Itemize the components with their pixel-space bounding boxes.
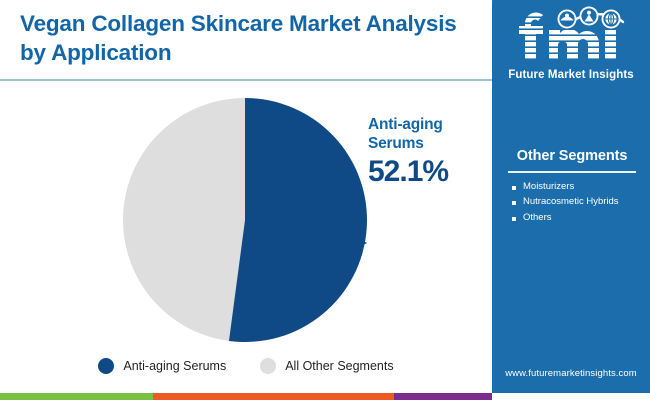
- pie-slice-anti-aging-serums[interactable]: [229, 98, 367, 342]
- callout-value: 52.1%: [368, 156, 483, 188]
- brand-sidebar: Future Market Insights Other Segments Mo…: [492, 0, 650, 393]
- logo-badge-globe-grid-icon: [602, 10, 621, 29]
- callout-label-line1: Anti-aging: [368, 116, 443, 133]
- bar-segment-green: [0, 393, 153, 400]
- logo-tagline: Future Market Insights: [492, 69, 650, 81]
- fmi-logo[interactable]: Future Market Insights: [492, 6, 650, 81]
- bullet-icon: [512, 186, 516, 190]
- other-segments-panel: Other Segments Moisturizers Nutracosmeti…: [506, 148, 638, 228]
- segment-label: Others: [523, 212, 552, 225]
- bottom-color-bar: [0, 393, 492, 400]
- website-url[interactable]: www.futuremarketinsights.com: [492, 368, 650, 379]
- pie-slice-all-other-segments[interactable]: [123, 98, 245, 341]
- segment-label: Moisturizers: [523, 181, 574, 194]
- logo-letter-f: [513, 12, 549, 64]
- arrow-right-icon: [340, 234, 368, 252]
- callout-label-line2: Serums: [368, 135, 424, 152]
- legend-label: Anti-aging Serums: [123, 359, 226, 373]
- bar-segment-orange: [153, 393, 394, 400]
- list-item: Nutracosmetic Hybrids: [512, 196, 638, 209]
- list-item: Others: [512, 212, 638, 225]
- pie-callout: Anti-aging Serums 52.1%: [368, 116, 483, 187]
- logo-letter-i: [603, 24, 619, 66]
- logo-badge-globe-icon: [558, 10, 577, 29]
- page-title: Vegan Collagen Skincare Market Analysis …: [20, 10, 470, 67]
- bullet-icon: [512, 217, 516, 221]
- logo-badge-chart-person-icon: [580, 7, 599, 26]
- other-segments-title: Other Segments: [506, 148, 638, 164]
- bullet-icon: [512, 201, 516, 205]
- callout-label: Anti-aging Serums: [368, 116, 483, 154]
- logo-letter-m: [545, 24, 603, 66]
- list-item: Moisturizers: [512, 181, 638, 194]
- bar-segment-purple: [394, 393, 492, 400]
- fmi-logo-mark: [505, 6, 637, 68]
- other-segments-divider: [508, 171, 636, 173]
- legend-item-anti-aging-serums[interactable]: Anti-aging Serums: [98, 358, 226, 374]
- legend-swatch-icon: [260, 358, 276, 374]
- infographic-page: Vegan Collagen Skincare Market Analysis …: [0, 0, 650, 400]
- chart-legend: Anti-aging Serums All Other Segments: [0, 358, 492, 374]
- legend-swatch-icon: [98, 358, 114, 374]
- legend-label: All Other Segments: [285, 359, 393, 373]
- segment-label: Nutracosmetic Hybrids: [523, 196, 619, 209]
- header-divider: [0, 79, 492, 81]
- legend-item-all-other-segments[interactable]: All Other Segments: [260, 358, 393, 374]
